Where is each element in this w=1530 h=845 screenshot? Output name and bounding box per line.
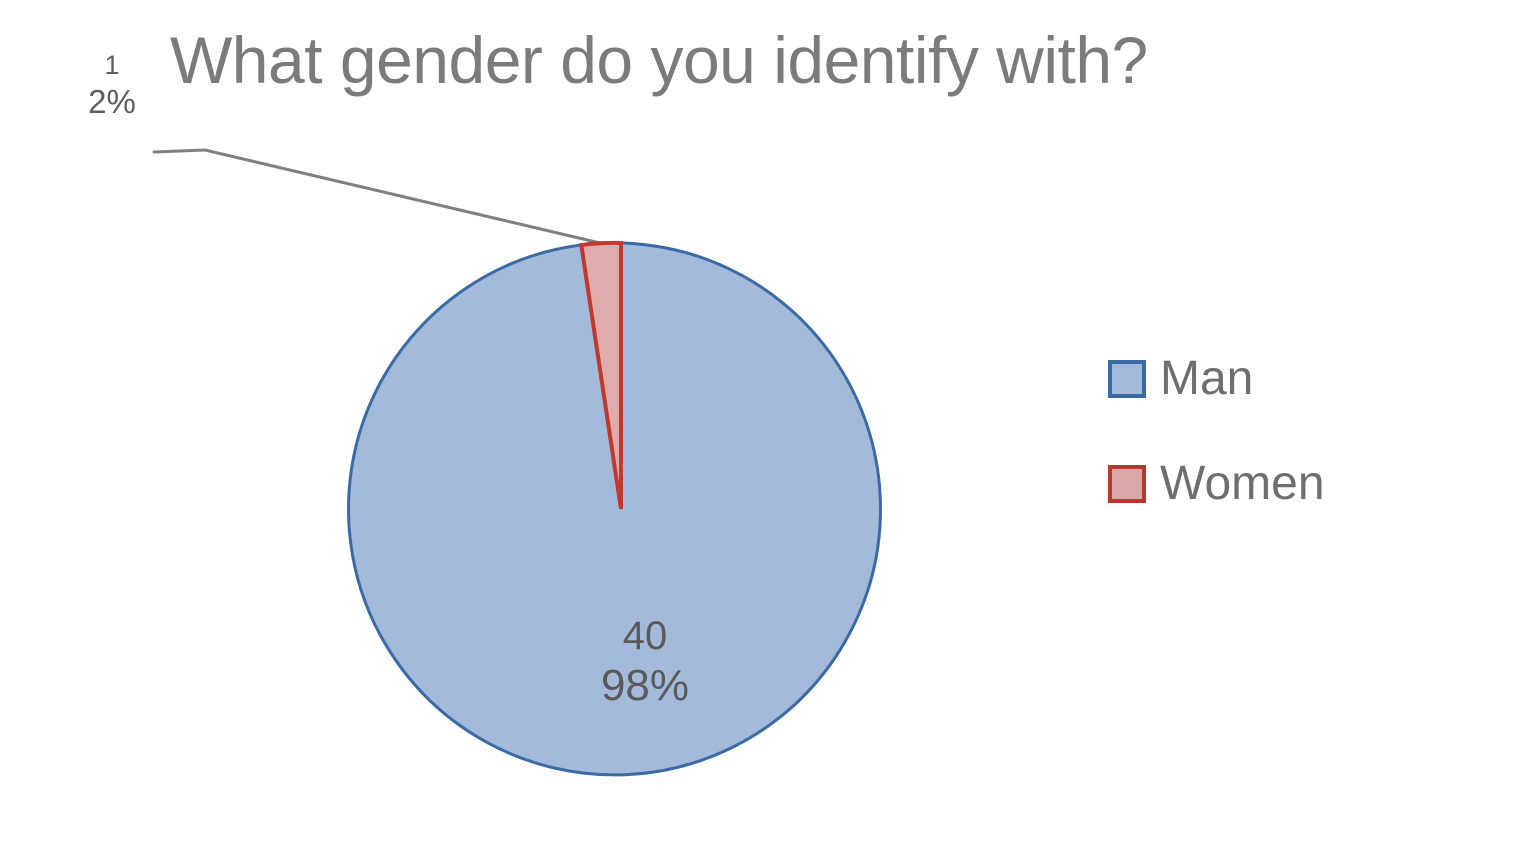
man-slice-data-label: 40 98%	[565, 612, 725, 712]
legend-item-man[interactable]: Man	[1108, 348, 1438, 410]
pie-chart-slide: What gender do you identify with? 1 2% 4…	[0, 0, 1530, 845]
legend-label-man: Man	[1160, 353, 1253, 405]
leader-line	[154, 150, 600, 243]
legend-label-women: Women	[1160, 458, 1325, 510]
legend-swatch-man	[1108, 360, 1146, 398]
legend-item-women[interactable]: Women	[1108, 453, 1438, 515]
man-slice-percent: 98%	[565, 660, 725, 712]
chart-legend: Man Women	[1108, 348, 1438, 558]
legend-swatch-women	[1108, 465, 1146, 503]
man-slice-value: 40	[565, 612, 725, 660]
